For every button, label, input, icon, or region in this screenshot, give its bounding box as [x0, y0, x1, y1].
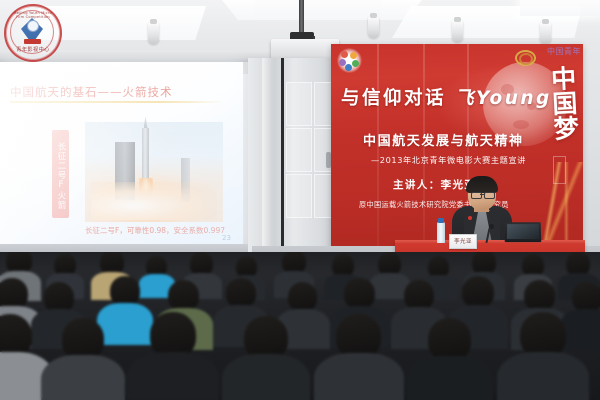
laptop[interactable] [505, 222, 542, 242]
door-frame [262, 58, 271, 254]
slide-title-underline [10, 101, 224, 103]
shoulders [314, 353, 404, 400]
logo-petal [350, 52, 357, 59]
slide-rocket-photo [85, 122, 223, 222]
banner-event-line: —2013年北京青年微电影大赛主题宣讲 [371, 154, 551, 166]
shoulders [41, 355, 125, 400]
shoulders [497, 352, 589, 400]
glass-pane [286, 82, 312, 126]
speaker-glasses-bridge [480, 194, 484, 195]
projector-mount-pole [299, 0, 304, 34]
slide-vertical-label: 长征二号F火箭 [52, 130, 69, 218]
speaker-glasses-right-lens [484, 192, 495, 199]
logo-petal [352, 60, 359, 67]
glass-pane [286, 174, 312, 218]
track-light [540, 22, 551, 44]
projection-screen: 中国航天的基石——火箭技术 长征二号F火箭 长征二号F，可靠性0.98，安全系数… [0, 62, 243, 248]
shoulders [407, 356, 493, 400]
water-bottle-cap [438, 218, 444, 223]
lecture-hall-photo: 中国航天的基石——火箭技术 长征二号F火箭 长征二号F，可靠性0.98，安全系数… [0, 0, 600, 400]
speaker-hair [466, 176, 498, 193]
track-light [368, 16, 379, 38]
head [462, 276, 494, 308]
partner-logo-text: 中国青年 [547, 46, 581, 60]
door-mullion [281, 58, 284, 254]
track-light [452, 20, 463, 42]
banner-fold [423, 44, 425, 257]
track-light [148, 22, 159, 44]
shoulders [560, 309, 600, 351]
head [110, 276, 140, 306]
glass-pane [286, 128, 312, 172]
slide-title: 中国航天的基石——火箭技术 [10, 84, 225, 100]
laptop-screen [507, 224, 539, 239]
banner-headline-cn: 与信仰对话 [341, 88, 446, 109]
head [288, 282, 317, 312]
banner-subtitle: 中国航天发展与航天精神 [363, 130, 553, 149]
head [344, 278, 375, 309]
shoulders [222, 354, 310, 400]
water-bottle [437, 222, 445, 244]
skylight-panel [520, 0, 600, 16]
watermark-red-bar [24, 39, 41, 44]
shoulders [127, 352, 219, 400]
calligraphy-seal [553, 156, 566, 184]
watermark-emblem-center-icon [27, 20, 39, 32]
head [168, 280, 199, 311]
head [62, 318, 104, 360]
microphone-head-icon [489, 224, 494, 229]
head [404, 280, 434, 310]
head [524, 280, 555, 311]
nameplate-text: 李光亚 [450, 237, 476, 245]
flower-logo-icon [337, 48, 362, 73]
banner-fold [377, 44, 379, 257]
watermark-seal: Beijing Youth Micro Film Competition 青年影… [4, 4, 62, 62]
audience [0, 252, 600, 400]
slide-page-number: 23 [222, 234, 231, 242]
head [226, 278, 256, 308]
logo-petal [341, 51, 348, 58]
ring-logo-inner-icon [519, 53, 533, 65]
slide-caption: 长征二号F，可靠性0.98，安全系数0.997 [85, 225, 230, 236]
logo-petal [345, 64, 352, 71]
rocket-nose-cone [144, 116, 148, 128]
head [572, 282, 600, 312]
nameplate: 李光亚 [449, 234, 477, 249]
exhaust-smoke [91, 182, 217, 220]
banner-headline: 与信仰对话 飞Young [341, 84, 541, 110]
logo-petal [339, 59, 346, 66]
speaker-lapel-pin [468, 216, 472, 220]
watermark-inner-text: 青年影视中心 [12, 46, 54, 58]
side-wall [583, 44, 600, 260]
head [428, 318, 471, 361]
skylight-panel [222, 0, 422, 20]
shoulders [97, 303, 153, 345]
